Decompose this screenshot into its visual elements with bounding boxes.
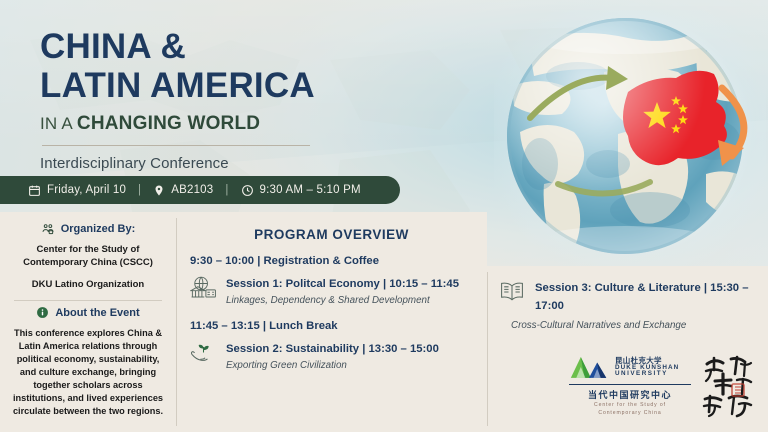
poster-tagline: Interdisciplinary Conference (40, 155, 460, 172)
dku-mountains-icon (569, 354, 609, 380)
headline-line-1: CHINA & (40, 28, 460, 65)
dku-name-en-2: UNIVERSITY (615, 371, 679, 378)
poster-headline: CHINA & LATIN AMERICA IN A CHANGING WORL… (40, 28, 460, 172)
open-book-icon (499, 278, 527, 309)
organizer-item-latino: DKU Latino Organization (12, 279, 164, 292)
meta-date: Friday, April 10 (28, 184, 126, 197)
cscc-name-en: Center for the Study ofContemporary Chin… (569, 402, 691, 417)
session1-subtitle: Linkages, Dependency & Shared Developmen… (226, 295, 473, 306)
program-section: PROGRAM OVERVIEW 9:30 – 10:00 | Registra… (176, 212, 487, 385)
program-title: PROGRAM OVERVIEW (190, 227, 473, 242)
program-entry-session1: Session 1: Politcal Economy | 10:15 – 11… (190, 274, 473, 306)
session3-subtitle: Cross-Cultural Narratives and Exchange (511, 320, 752, 331)
about-section: About the Event This conference explores… (0, 306, 176, 418)
session2-title: Session 2: Sustainability | 13:30 – 15:0… (226, 343, 439, 355)
organizer-item-cscc: Center for the Study ofContemporary Chin… (12, 244, 164, 270)
meta-time: 9:30 AM – 5:10 PM (241, 184, 361, 197)
headline-divider (42, 145, 310, 146)
headline-line-2: LATIN AMERICA (40, 67, 460, 104)
institution-icon (190, 274, 218, 304)
people-group-icon (41, 222, 55, 236)
organizers-heading: Organized By: (12, 222, 164, 236)
dku-cscc-logo: 昆山杜克大学 DUKE KUNSHAN UNIVERSITY 当代中国研究中心 … (569, 354, 691, 417)
info-icon-glyph (36, 306, 49, 319)
meta-time-text: 9:30 AM – 5:10 PM (260, 184, 361, 196)
about-body-text: This conference explores China & Latin A… (10, 327, 166, 418)
about-heading: About the Event (10, 306, 166, 319)
session1-title: Session 1: Politcal Economy | 10:15 – 11… (226, 278, 459, 290)
session2-subtitle: Exporting Green Civilization (226, 360, 473, 371)
clock-icon (241, 184, 254, 197)
about-heading-label: About the Event (55, 307, 139, 319)
program-entry-session2: Session 2: Sustainability | 13:30 – 15:0… (190, 339, 473, 371)
program-entry-lunch: 11:45 – 13:15 | Lunch Break (190, 320, 473, 332)
people-group-icon-glyph (41, 222, 55, 236)
meta-separator-2: | (225, 184, 228, 196)
dku-wordmark: 昆山杜克大学 DUKE KUNSHAN UNIVERSITY (615, 357, 679, 378)
program-entry-session3: Session 3: Culture & Literature | 15:30 … (499, 278, 752, 314)
session2-text: Session 2: Sustainability | 13:30 – 15:0… (226, 339, 473, 371)
globe-graphic (492, 6, 768, 268)
chinese-calligraphy-seal (701, 354, 759, 418)
plant-in-hand-icon (190, 339, 218, 369)
open-book-icon-glyph (499, 280, 525, 304)
program-entry-registration: 9:30 – 10:00 | Registration & Coffee (190, 255, 473, 267)
info-icon (36, 306, 49, 319)
session1-text: Session 1: Politcal Economy | 10:15 – 11… (226, 274, 473, 306)
cscc-name-cn: 当代中国研究中心 (569, 388, 691, 401)
meta-location: AB2103 (153, 184, 213, 197)
calendar-icon (28, 184, 41, 197)
conference-poster: CHINA & LATIN AMERICA IN A CHANGING WORL… (0, 0, 768, 432)
meta-separator-1: | (138, 184, 141, 196)
organizers-heading-label: Organized By: (61, 223, 136, 235)
organizers-section: Organized By: Center for the Study ofCon… (0, 212, 176, 300)
event-meta-bar: Friday, April 10 | AB2103 | 9:30 AM – 5:… (0, 176, 400, 204)
dku-logo-divider (569, 384, 691, 385)
logo-row: 昆山杜克大学 DUKE KUNSHAN UNIVERSITY 当代中国研究中心 … (560, 344, 768, 428)
map-pin-icon (153, 184, 165, 197)
plant-in-hand-icon-glyph (190, 341, 217, 364)
subline-strong: CHANGING WORLD (77, 113, 260, 134)
session3-section: Session 3: Culture & Literature | 15:30 … (487, 266, 768, 331)
session3-title: Session 3: Culture & Literature | 15:30 … (535, 282, 748, 312)
session3-text: Session 3: Culture & Literature | 15:30 … (535, 278, 752, 314)
earth-globe-illustration (500, 14, 750, 264)
subline-prefix: IN A (40, 114, 77, 133)
headline-subline: IN A CHANGING WORLD (40, 113, 460, 135)
institution-icon-glyph (190, 276, 217, 299)
meta-date-text: Friday, April 10 (47, 184, 126, 196)
dku-logo-top: 昆山杜克大学 DUKE KUNSHAN UNIVERSITY (569, 354, 691, 380)
meta-location-text: AB2103 (171, 184, 213, 196)
